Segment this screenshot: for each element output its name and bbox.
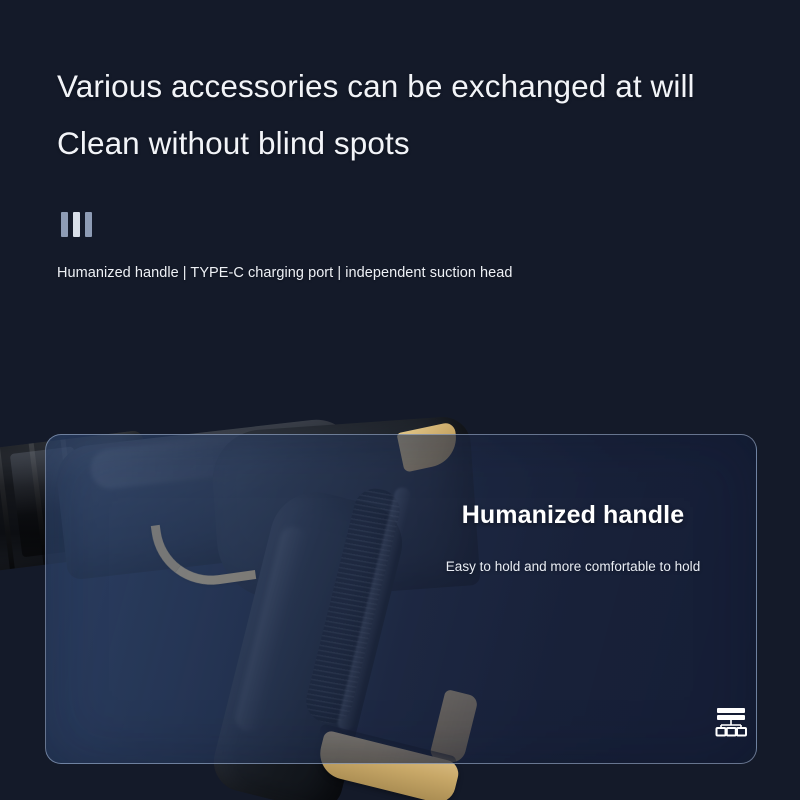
marketing-slide: Various accessories can be exchanged at … — [0, 0, 800, 800]
page-title: Various accessories can be exchanged at … — [57, 58, 757, 172]
feature-panel-title: Humanized handle — [403, 501, 743, 530]
divider-bar-1 — [61, 212, 68, 237]
feature-panel-subtitle: Easy to hold and more comfortable to hol… — [403, 559, 743, 574]
product-motor-rib — [0, 447, 15, 569]
hierarchy-icon — [714, 707, 748, 737]
divider-bars-icon — [61, 212, 92, 237]
divider-bar-2 — [73, 212, 80, 237]
headline-line-2: Clean without blind spots — [57, 115, 757, 172]
feature-list-text: Humanized handle | TYPE-C charging port … — [57, 265, 513, 281]
headline-line-1: Various accessories can be exchanged at … — [57, 68, 695, 104]
divider-bar-3 — [85, 212, 92, 237]
feature-panel: Humanized handle Easy to hold and more c… — [45, 434, 757, 764]
